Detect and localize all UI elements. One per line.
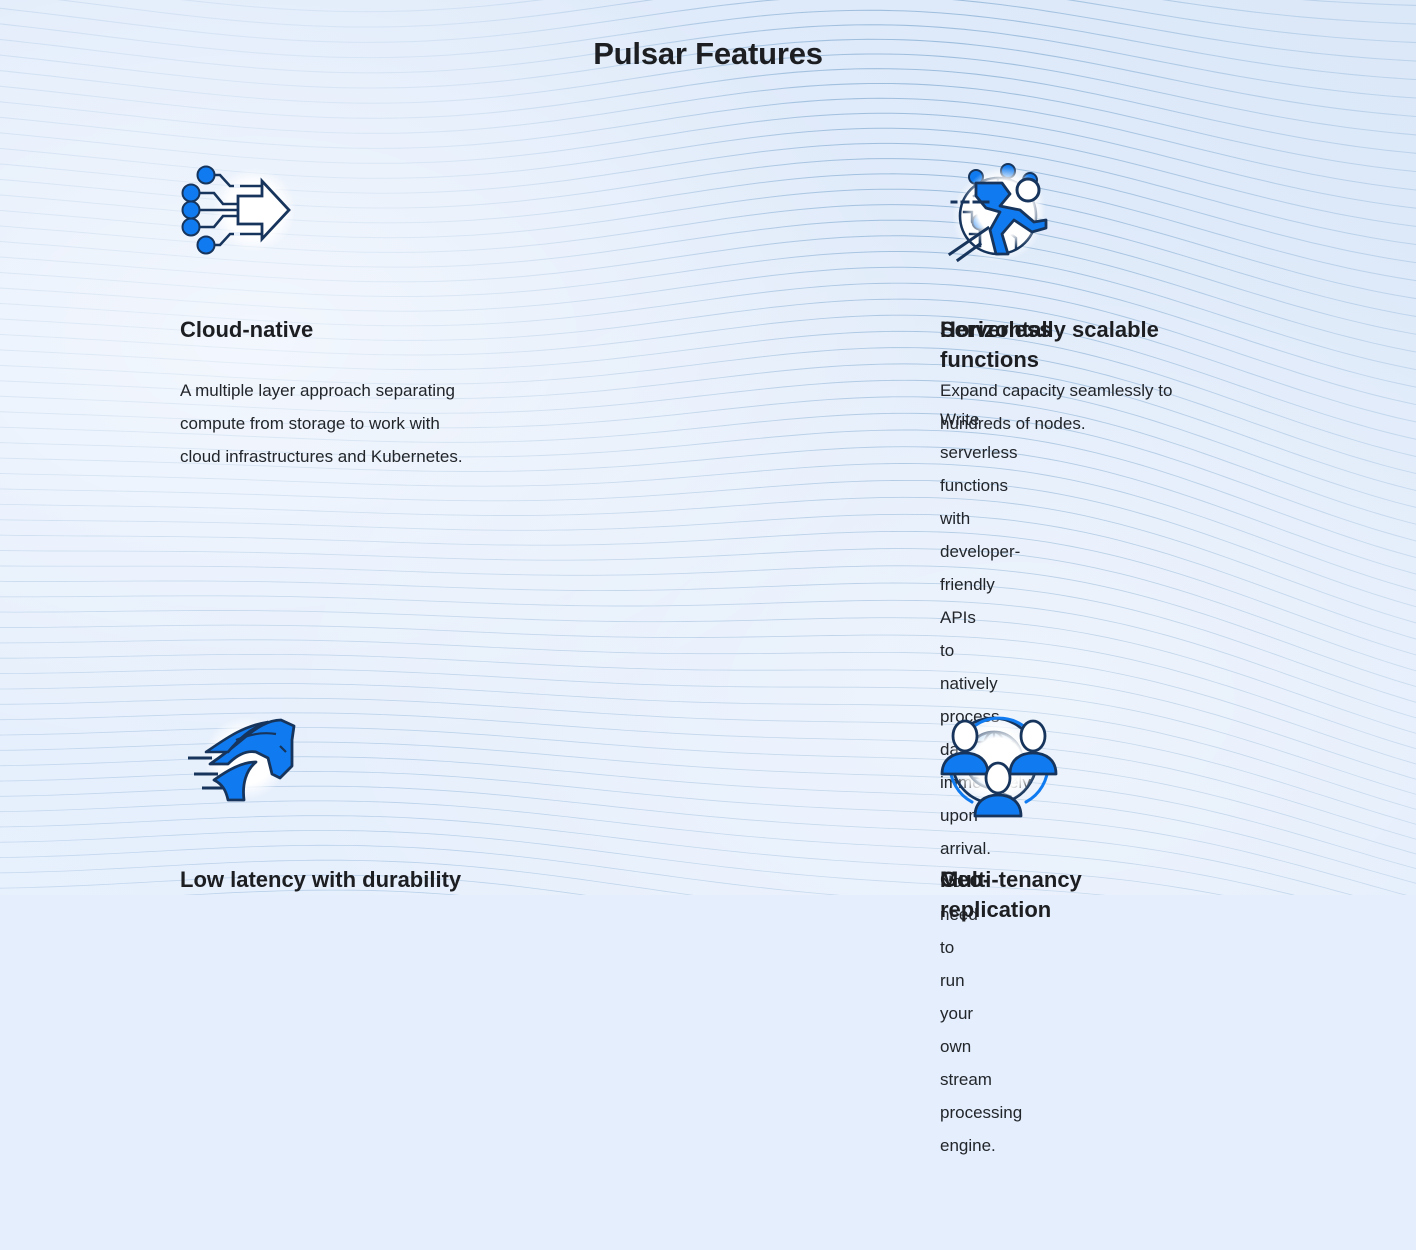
page-title: Pulsar Features — [0, 0, 1416, 72]
feature-card-low-latency: Low latency with durability — [180, 700, 560, 1250]
feature-card-multi-tenancy: Multi-tenancy — [940, 700, 1250, 1250]
feature-card-horizontally-scalable: Horizontally scalable Expand capacity se… — [940, 150, 1250, 700]
feature-icon-wrap — [560, 700, 940, 820]
feature-description: Expand capacity seamlessly to hundreds o… — [940, 345, 1230, 440]
features-page: Pulsar Features — [0, 0, 1416, 895]
running-figure-icon — [936, 150, 1066, 270]
feature-icon-wrap — [180, 150, 560, 270]
data-flow-arrow-icon — [176, 150, 306, 270]
features-grid: Cloud-native A multiple layer approach s… — [180, 150, 1250, 1250]
feature-title: Horizontally scalable — [940, 270, 1240, 345]
feature-title: Low latency with durability — [180, 820, 480, 895]
feature-card-geo-replication: Geo-replication — [560, 700, 940, 1250]
feature-icon-wrap — [940, 150, 1250, 270]
feature-icon-wrap — [940, 700, 1250, 820]
feature-card-cloud-native: Cloud-native A multiple layer approach s… — [180, 150, 560, 700]
galloping-horse-icon — [176, 700, 306, 820]
feature-title: Multi-tenancy — [940, 820, 1240, 895]
feature-icon-wrap — [560, 150, 940, 270]
feature-title: Cloud-native — [180, 270, 480, 345]
feature-card-serverless-functions: Serverless functions Write serverless fu… — [560, 150, 940, 700]
feature-description: A multiple layer approach separating com… — [180, 345, 480, 473]
feature-icon-wrap — [180, 700, 560, 820]
three-users-icon — [936, 700, 1066, 820]
